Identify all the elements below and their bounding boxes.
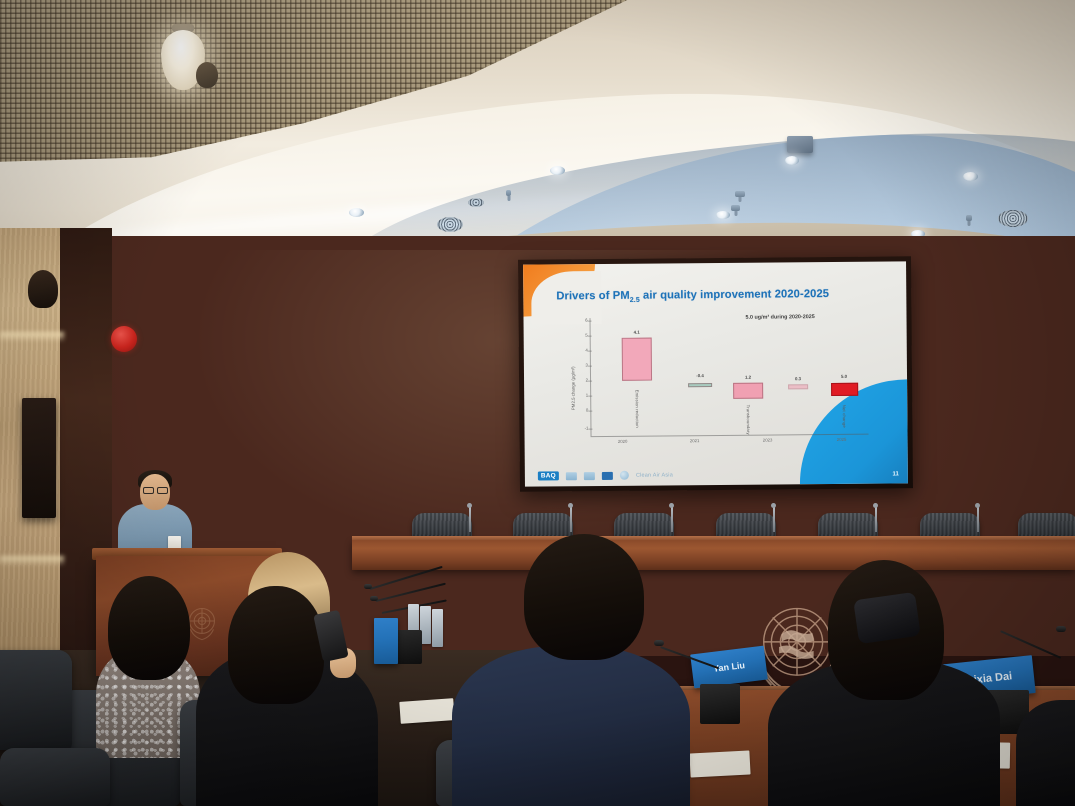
eyeglasses-icon [143,487,168,492]
chart-x-axis [591,434,869,437]
y-tick: -1 [568,426,588,431]
delegate-console-unit[interactable] [432,609,443,647]
x-tick-label: 2025 [837,437,847,442]
bar-category-label: Emission reduction [635,388,640,430]
x-tick-label: 2023 [763,438,773,443]
audience-chair[interactable] [0,748,110,806]
y-tick: 1 [568,393,588,398]
y-tick: 6 [568,318,588,323]
microphone-head-icon [364,584,372,589]
downlight-icon [550,166,565,175]
partner-logo-icon [602,471,613,479]
bar-meteorology [688,383,712,387]
slide-title-part1: Drivers of PM [556,290,630,303]
bar-net-change [831,383,858,396]
paper-document [399,698,454,724]
audience-member-hair [228,586,324,704]
dais-microphone-icon[interactable] [977,506,979,532]
slide-page-number: 11 [893,471,899,477]
bar-value-label: 4.1 [634,330,640,335]
sprinkler-icon [506,190,511,196]
left-wall-accent-light [0,332,64,342]
sprinkler-icon [966,215,972,221]
audience-member-body [452,646,690,806]
projector-mount-icon [787,136,813,153]
red-alarm-indicator [111,326,137,352]
slide-footer: BAQ Clean Air Asia [538,470,673,480]
dais-microphone-icon[interactable] [469,506,471,532]
partner-logo-icon [584,472,595,480]
y-tick: 4 [568,348,588,353]
microphone-head-icon [654,640,664,646]
air-vent-icon [468,198,484,207]
microphone-head-icon [1056,626,1066,632]
projection-screen[interactable]: Drivers of PM2.5 air quality improvement… [518,256,913,491]
x-tick-label: 2021 [690,438,700,443]
ceiling-speaker-icon [196,62,218,88]
bar-category-label: Transboundary [746,405,751,431]
downlight-icon [716,211,730,219]
conference-room-photo: Drivers of PM2.5 air quality improvement… [0,0,1075,806]
slide-title-subscript: 2.5 [630,297,640,304]
microphone-head-icon [370,596,378,601]
y-tick: 3 [568,363,588,368]
bar-value-label: -0.4 [696,373,704,378]
bar-category-label: Net change [842,401,847,431]
bar-other [788,384,808,389]
audience-member-hair [524,534,644,660]
microphone-base [700,684,740,724]
partner-logo-icon [620,471,629,480]
waterfall-chart: PM2.5 change (µg/m³) 6 5 4 3 2 1 0 -1 4.… [560,316,883,459]
dais-microphone-icon[interactable] [875,506,877,532]
downlight-icon [963,172,978,181]
y-tick: 0 [568,408,588,413]
delegate-screen-panel[interactable] [374,618,398,664]
partner-logo-text: Clean Air Asia [636,472,673,478]
x-tick-label: 2020 [618,439,628,444]
slide-title-part2: air quality improvement 2020-2025 [640,288,829,302]
y-tick: 2 [568,378,588,383]
dais-microphone-icon[interactable] [570,506,572,532]
paper-document [689,750,750,777]
left-wall-accent-light [0,556,64,566]
slide-title: Drivers of PM2.5 air quality improvement… [556,288,886,305]
wall-speaker-icon [22,398,56,518]
dais-microphone-icon[interactable] [773,506,775,532]
bar-value-label: 5.0 [841,374,847,379]
audience-member-hair [108,576,190,680]
eyeglasses-on-head-icon [853,592,921,644]
bar-value-label: 1.2 [745,375,751,380]
sprinkler-icon [735,191,745,197]
bar-value-label: 0.3 [795,376,801,381]
chart-annotation: 5.0 ug/m³ during 2020-2025 [745,314,814,321]
air-vent-icon [437,217,463,232]
wall-speaker-upper-icon [28,270,58,308]
audience-member-body [1016,700,1075,806]
downlight-icon [349,208,364,217]
sprinkler-icon [731,205,740,211]
partner-logo-icon [566,472,577,480]
dais-microphone-icon[interactable] [671,506,673,532]
y-tick: 5 [568,333,588,338]
bar-emission-reduction [622,338,652,381]
air-vent-icon [998,210,1028,227]
bar-transboundary [733,383,763,399]
baq-logo: BAQ [538,471,559,480]
dais-rail [352,540,1075,570]
downlight-icon [785,156,799,165]
chart-y-axis-title: PM2.5 change (µg/m³) [570,349,576,427]
audience-chair[interactable] [0,650,72,750]
slide-surface: Drivers of PM2.5 air quality improvement… [523,261,908,486]
